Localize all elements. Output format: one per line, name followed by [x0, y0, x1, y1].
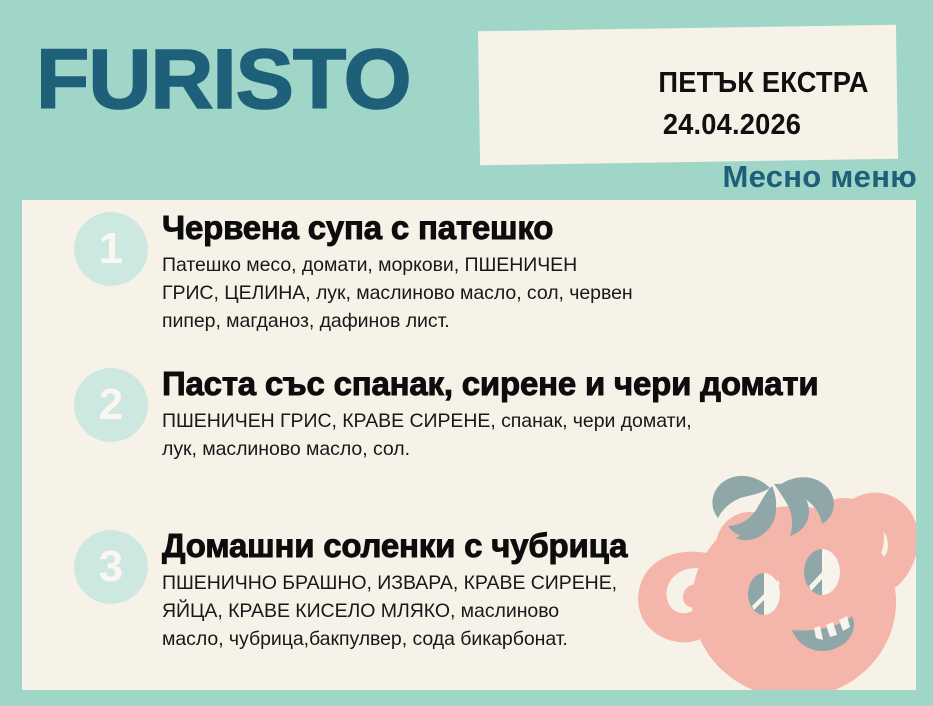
dish-title: Червена супа с патешко: [162, 208, 912, 248]
date-label: ПЕТЪК ЕКСТРА: [659, 66, 869, 100]
menu-poster: FURISTO ПЕТЪК ЕКСТРА 24.04.2026 Месно ме…: [0, 0, 933, 706]
dish-title: Паста със спанак, сирене и чери домати: [162, 364, 912, 404]
poster-header: FURISTO ПЕТЪК ЕКСТРА 24.04.2026 Месно ме…: [0, 0, 933, 200]
dish-list: 1 Червена супа с патешко Патешко месо, д…: [22, 200, 916, 690]
dish-description: ПШЕНИЧНО БРАШНО, ИЗВАРА, КРАВЕ СИРЕНЕ, Я…: [162, 569, 912, 653]
dish-number-badge: 1: [74, 212, 148, 286]
dish-description: Патешко месо, домати, моркови, ПШЕНИЧЕН …: [162, 251, 912, 335]
dish-number-badge: 3: [74, 530, 148, 604]
dish-description: ПШЕНИЧЕН ГРИС, КРАВЕ СИРЕНЕ, спанак, чер…: [162, 407, 912, 463]
dish-title: Домашни соленки с чубрица: [162, 526, 912, 566]
date-card: ПЕТЪК ЕКСТРА 24.04.2026: [478, 25, 898, 166]
menu-kind-label: Месно меню: [722, 160, 917, 194]
menu-card: 1 Червена супа с патешко Патешко месо, д…: [22, 200, 916, 690]
date-value: 24.04.2026: [663, 108, 801, 142]
brand-logo: FURISTO: [36, 37, 411, 121]
dish-number-badge: 2: [74, 368, 148, 442]
